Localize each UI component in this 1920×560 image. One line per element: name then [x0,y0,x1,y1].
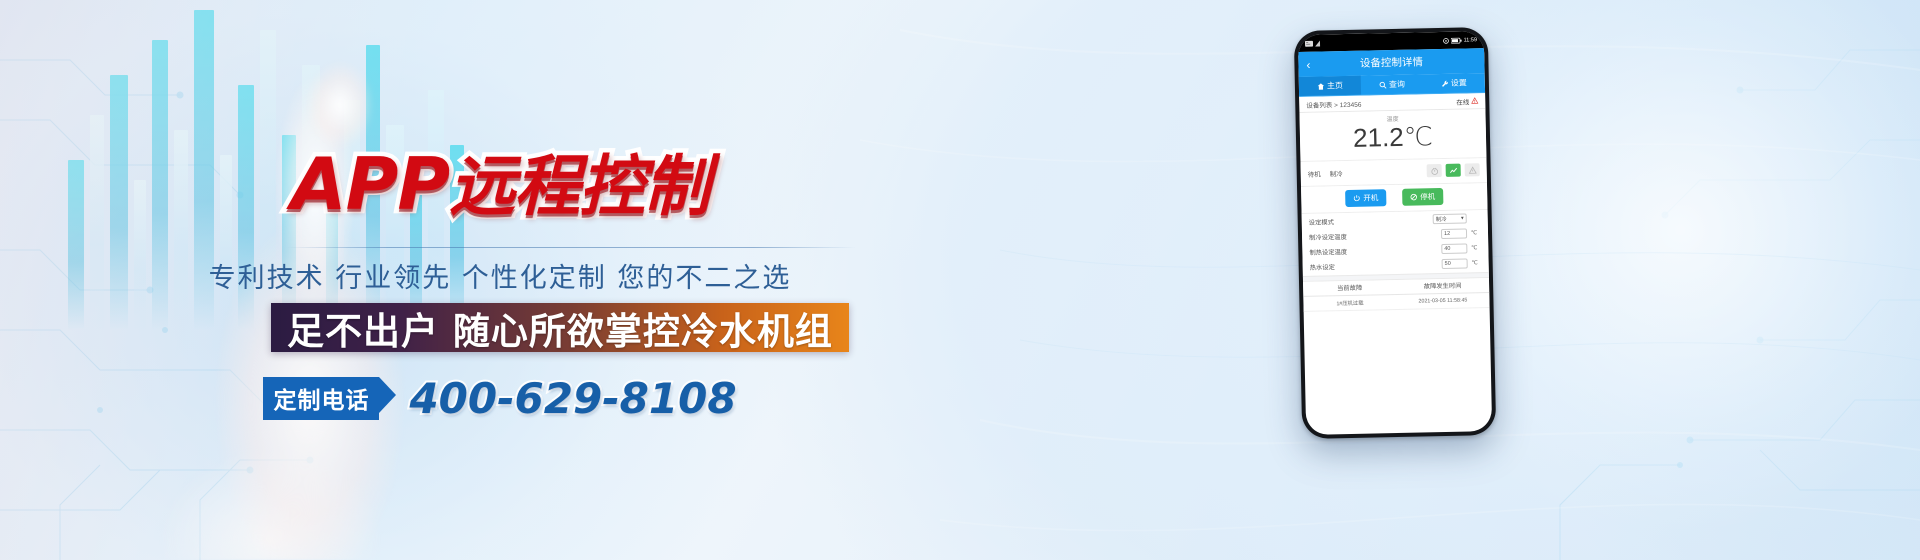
nav-title: 设备控制详情 [1298,53,1484,72]
power-off-button[interactable]: 停机 [1402,188,1443,206]
home-icon [1317,82,1325,90]
setting-unit-cooling-temp: ℃ [1467,230,1481,236]
setting-input-cooling-temp[interactable]: 12 [1441,229,1467,240]
chart-icon-button[interactable] [1446,164,1461,177]
temperature-block: 温度 21.2℃ [1299,109,1486,161]
alarm-icon-button[interactable] [1465,163,1480,176]
tab-settings-label: 设置 [1451,77,1467,88]
page-title: APP远程控制 [0,133,1000,229]
power-off-label: 停机 [1420,191,1435,202]
telephone-row: 定制电话 400-629-8108 [0,374,1000,423]
mode-icon-group [1427,163,1480,177]
fault-header-name: 当前故障 [1303,282,1396,293]
power-on-label: 开机 [1363,192,1378,203]
search-icon [1379,81,1387,89]
location-icon [1443,37,1449,43]
setting-select-mode[interactable]: 制冷 ▾ [1433,214,1467,225]
promo-banner: APP远程控制 专利技术 行业领先 个性化定制 您的不二之选 足不出户 随心所欲… [0,0,1920,560]
telephone-number[interactable]: 400-629-8108 [409,374,736,423]
device-state-label: 待机 [1308,168,1321,178]
signal-icon [1315,40,1321,46]
status-bar-left [1305,40,1321,46]
headline-bar: 足不出户 随心所欲掌控冷水机组 [271,303,849,352]
power-icon [1353,195,1360,202]
copy-block: APP远程控制 专利技术 行业领先 个性化定制 您的不二之选 足不出户 随心所欲… [0,0,1060,560]
headline-text: 足不出户 随心所欲掌控冷水机组 [287,301,833,355]
sim-card-icon [1305,40,1313,46]
power-on-button[interactable]: 开机 [1345,189,1386,207]
tab-query[interactable]: 查询 [1361,74,1423,94]
title-divider [286,247,856,248]
battery-icon [1451,37,1462,43]
setting-input-heating-temp[interactable]: 40 [1441,244,1467,255]
temperature-value: 21.2℃ [1300,121,1487,153]
title-en: APP [291,142,449,226]
timer-icon [1430,167,1438,175]
phone-screen: 11:59 ‹ 设备控制详情 主页 查询 设置 [1298,31,1492,435]
mode-status-row: 待机 制冷 [1300,158,1486,187]
chevron-down-icon: ▾ [1461,216,1464,222]
fault-table-row[interactable]: 1#压机过载 2021-03-05 11:58:45 [1303,293,1489,312]
tab-home[interactable]: 主页 [1299,76,1361,96]
tab-settings[interactable]: 设置 [1423,73,1485,93]
status-time: 11:59 [1464,37,1477,43]
fault-header-time: 故障发生时间 [1396,280,1489,291]
setting-label-hotwater: 热水设定 [1310,260,1442,272]
title-cn: 远程控制 [449,148,709,225]
device-mode-label: 制冷 [1330,168,1343,178]
setting-label-heating-temp: 制热设定温度 [1309,245,1441,257]
setting-input-hotwater[interactable]: 50 [1442,259,1468,270]
status-bar-right: 11:59 [1443,37,1477,44]
telephone-label-tag: 定制电话 [263,377,379,420]
tab-query-label: 查询 [1389,79,1405,90]
fault-table: 当前故障 故障发生时间 1#压机过载 2021-03-05 11:58:45 [1303,278,1490,312]
power-button-row: 开机 停机 [1301,183,1488,214]
settings-list: 设定模式 制冷 ▾ 制冷设定温度 12 ℃ 制热设定温度 40 ℃ [1302,210,1489,276]
subtitle: 专利技术 行业领先 个性化定制 您的不二之选 [0,256,1000,295]
stop-icon [1410,194,1417,201]
setting-unit-hotwater: ℃ [1468,260,1482,266]
fault-cell-name: 1#压机过载 [1303,298,1396,308]
setting-value-mode: 制冷 [1436,215,1447,223]
timer-icon-button[interactable] [1427,164,1442,177]
wrench-icon [1441,79,1449,87]
breadcrumb-path[interactable]: 设备列表 > 123456 [1306,98,1361,109]
nav-bar: ‹ 设备控制详情 [1298,48,1484,77]
chart-icon [1449,166,1457,174]
setting-label-mode: 设定模式 [1309,215,1433,227]
fault-cell-time: 2021-03-05 11:58:45 [1396,297,1489,305]
online-status-label: 在线 [1456,96,1469,106]
warning-icon [1471,97,1478,104]
setting-label-cooling-temp: 制冷设定温度 [1309,230,1441,242]
online-status: 在线 [1456,96,1478,106]
setting-unit-heating-temp: ℃ [1467,245,1481,251]
chevron-left-icon[interactable]: ‹ [1306,58,1310,70]
alarm-icon [1468,166,1476,174]
tab-home-label: 主页 [1327,80,1343,91]
phone-mockup: 11:59 ‹ 设备控制详情 主页 查询 设置 [1294,27,1497,439]
